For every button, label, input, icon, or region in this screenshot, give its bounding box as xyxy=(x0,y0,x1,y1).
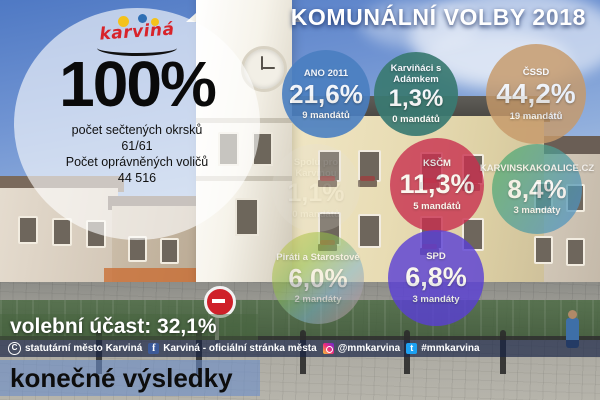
party-seats: 5 mandátů xyxy=(413,201,461,212)
party-result-circle: ANO 201121,6%9 mandátů xyxy=(282,50,370,138)
party-name: KSČM xyxy=(419,158,455,169)
instagram-icon[interactable] xyxy=(323,343,334,354)
credit-label: @mmkarvina xyxy=(338,343,401,354)
party-percent: 6,0% xyxy=(288,265,347,291)
turnout-text: volební účast: 32,1% xyxy=(10,314,217,340)
party-result-circle: SPD6,8%3 mandáty xyxy=(388,230,484,326)
window xyxy=(566,238,585,266)
credit-item[interactable]: fKarviná - oficiální stránka města xyxy=(148,343,316,354)
party-name: SPD xyxy=(422,251,450,262)
window xyxy=(18,216,38,244)
party-seats: 3 mandáty xyxy=(514,205,561,216)
counted-label: počet sečtených okrsků xyxy=(66,122,208,138)
window xyxy=(160,238,179,264)
counted-percent: 100% xyxy=(59,52,215,116)
party-seats: 19 mandátů xyxy=(510,111,563,122)
party-percent: 21,6% xyxy=(289,81,363,107)
party-seats: 0 mandátů xyxy=(292,209,340,220)
party-name: Spolu pro Karvinou xyxy=(272,157,360,179)
window xyxy=(52,218,72,246)
tower-window xyxy=(235,198,259,236)
counted-value: 61/61 xyxy=(66,138,208,154)
party-name: ČSSD xyxy=(519,67,553,78)
credit-label: Karviná - oficiální stránka města xyxy=(163,343,316,354)
eligible-voters-label: Počet oprávněných voličů xyxy=(66,154,208,170)
party-seats: 0 mandátů xyxy=(392,114,440,125)
party-seats: 3 mandáty xyxy=(413,294,460,305)
party-name: Karviňáci s Adámkem xyxy=(374,63,458,85)
party-percent: 6,8% xyxy=(405,264,467,291)
final-result-text: konečné výsledky xyxy=(10,362,233,394)
window xyxy=(534,236,553,264)
party-result-circle: Spolu pro Karvinou1,1%0 mandátů xyxy=(272,144,360,232)
summary-details: počet sečtených okrsků 61/61 Počet opráv… xyxy=(66,122,208,186)
credits-bar: Cstatutární město KarvináfKarviná - ofic… xyxy=(0,340,600,357)
facebook-icon[interactable]: f xyxy=(148,343,159,354)
party-name: ANO 2011 xyxy=(300,68,352,79)
party-percent: 8,4% xyxy=(507,176,566,202)
karvina-logo: karviná xyxy=(91,16,183,50)
party-result-circle: Piráti a Starostové6,0%2 mandáty xyxy=(272,232,364,324)
summary-circle: karviná 100% počet sečtených okrsků 61/6… xyxy=(14,8,260,240)
party-percent: 1,3% xyxy=(389,87,444,111)
credit-label: statutární město Karviná xyxy=(25,343,142,354)
party-result-circle: Karviňáci s Adámkem1,3%0 mandátů xyxy=(374,52,458,136)
party-percent: 1,1% xyxy=(288,181,345,206)
window xyxy=(358,214,381,248)
party-percent: 11,3% xyxy=(399,171,474,198)
party-result-circle: KSČM11,3%5 mandátů xyxy=(390,138,484,232)
credit-label: #mmkarvina xyxy=(421,343,479,354)
flower-box xyxy=(358,180,377,187)
credit-item[interactable]: @mmkarvina xyxy=(323,343,401,354)
party-result-circle: ČSSD44,2%19 mandátů xyxy=(486,44,586,144)
party-result-circle: KARVINSKAKOALICE.CZ8,4%3 mandáty xyxy=(492,144,582,234)
twitter-icon[interactable]: t xyxy=(406,343,417,354)
party-percent: 44,2% xyxy=(496,80,575,108)
party-name: Piráti a Starostové xyxy=(272,252,363,263)
copyright-icon[interactable]: C xyxy=(8,342,21,355)
page-title: KOMUNÁLNÍ VOLBY 2018 xyxy=(291,4,586,31)
party-name: KARVINSKAKOALICE.CZ xyxy=(476,163,598,174)
party-seats: 2 mandáty xyxy=(295,294,342,305)
logo-swoosh-icon xyxy=(97,40,177,56)
credit-item[interactable]: t#mmkarvina xyxy=(406,343,479,354)
pedestrian-head xyxy=(568,310,577,319)
credit-item[interactable]: Cstatutární město Karviná xyxy=(8,342,142,355)
eligible-voters-value: 44 516 xyxy=(66,170,208,186)
election-infographic: KOMUNÁLNÍ VOLBY 2018 karviná 100% počet … xyxy=(0,0,600,400)
party-seats: 9 mandátů xyxy=(302,110,350,121)
